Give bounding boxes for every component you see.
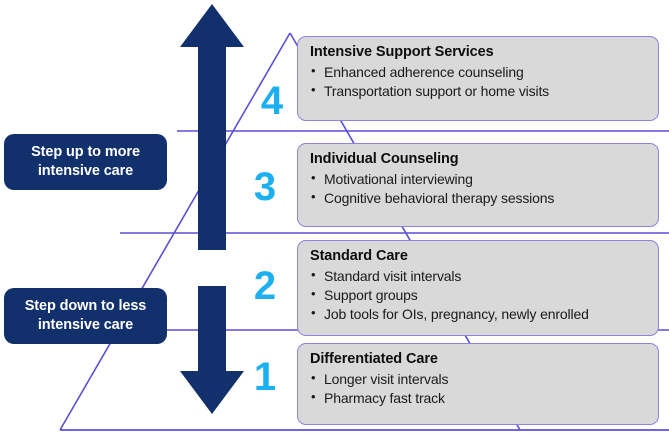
level-bullets-3: Motivational interviewing Cognitive beha…: [310, 170, 648, 208]
list-item: Support groups: [310, 286, 648, 305]
list-item: Enhanced adherence counseling: [310, 63, 648, 82]
step-down-label[interactable]: Step down to less intensive care: [4, 288, 167, 344]
step-up-label[interactable]: Step up to more intensive care: [4, 134, 167, 190]
level-box-3[interactable]: Individual Counseling Motivational inter…: [297, 143, 659, 227]
down-arrow-icon: [180, 286, 244, 414]
level-number-4: 4: [252, 81, 292, 121]
list-item: Standard visit intervals: [310, 267, 648, 286]
list-item: Cognitive behavioral therapy sessions: [310, 189, 648, 208]
level-title-4: Intensive Support Services: [310, 43, 648, 62]
up-arrow-icon: [180, 4, 244, 250]
level-bullets-2: Standard visit intervals Support groups …: [310, 267, 648, 324]
level-title-3: Individual Counseling: [310, 150, 648, 169]
list-item: Pharmacy fast track: [310, 389, 648, 408]
list-item: Transportation support or home visits: [310, 82, 648, 101]
level-box-1[interactable]: Differentiated Care Longer visit interva…: [297, 343, 659, 425]
level-title-1: Differentiated Care: [310, 350, 648, 369]
level-bullets-1: Longer visit intervals Pharmacy fast tra…: [310, 370, 648, 408]
level-number-3: 3: [245, 167, 285, 207]
level-box-4[interactable]: Intensive Support Services Enhanced adhe…: [297, 36, 659, 121]
level-bullets-4: Enhanced adherence counseling Transporta…: [310, 63, 648, 101]
level-title-2: Standard Care: [310, 247, 648, 266]
level-box-2[interactable]: Standard Care Standard visit intervals S…: [297, 240, 659, 336]
list-item: Job tools for OIs, pregnancy, newly enro…: [310, 305, 648, 324]
level-number-2: 2: [245, 266, 285, 306]
list-item: Motivational interviewing: [310, 170, 648, 189]
list-item: Longer visit intervals: [310, 370, 648, 389]
diagram-canvas: 4 3 2 1 Intensive Support Services Enhan…: [0, 0, 669, 434]
level-number-1: 1: [245, 357, 285, 397]
